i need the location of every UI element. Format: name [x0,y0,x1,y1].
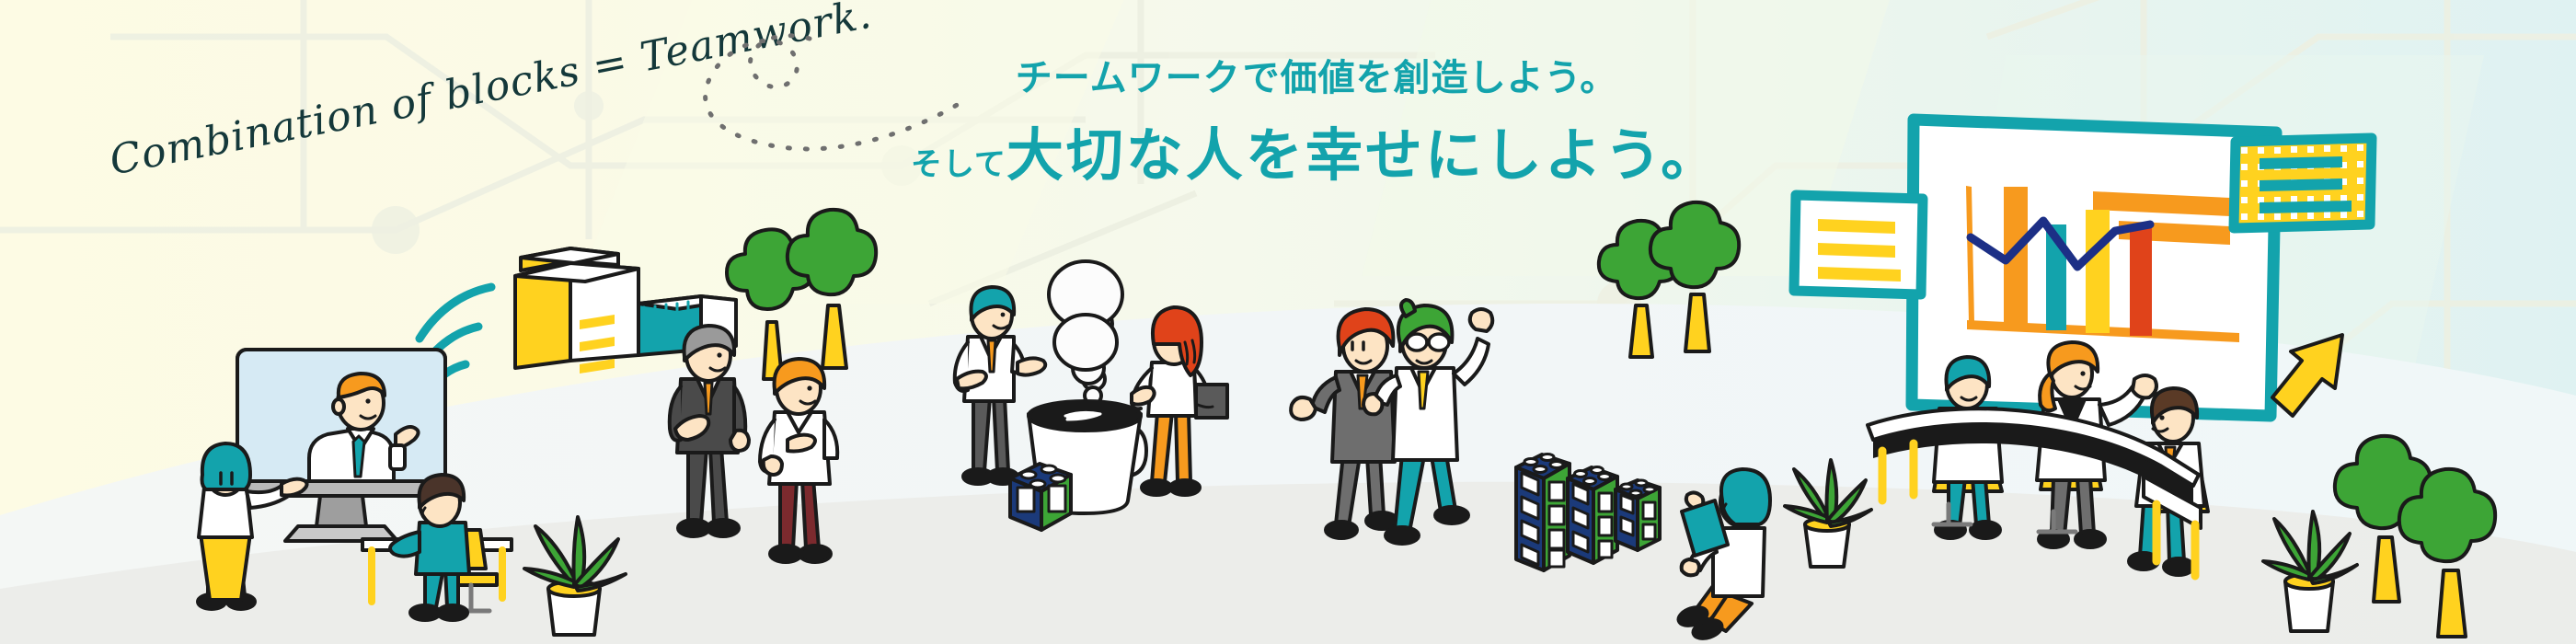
plant-leaves [2263,512,2357,583]
video-call-scene [198,287,512,620]
illustration-layer [0,0,2576,644]
block-cube [1010,464,1071,530]
plant-leaves [524,517,626,591]
growth-arrow-icon [2272,335,2342,416]
coffee-man [955,287,1045,484]
coffee-break-scene [955,261,1227,530]
potted-plant [1785,460,1871,567]
businessman-junior [760,359,837,562]
sticky-note [2234,138,2372,228]
coffee-woman [1132,307,1227,495]
building-windows [580,315,615,374]
potted-plant [524,517,626,635]
steam [1049,261,1122,404]
teamwork-banner: Combination of blocks = Teamwork. チームワーク… [0,0,2576,644]
plant-leaves [1785,460,1871,526]
office-buildings-scene [515,210,876,562]
block-towers-scene [1516,454,1660,571]
card-text-lines [1818,219,1901,282]
block-tower-1 [1516,454,1570,571]
potted-plant [2263,512,2357,631]
block-tower-3 [1616,480,1660,550]
tablet-reader-scene [1676,469,1770,642]
sticky-note-lines [2260,156,2352,213]
left-note-card [1794,195,1923,294]
celebration-scene [1291,300,1492,544]
block-tower-2 [1568,467,1617,564]
businessman-senior [670,326,749,536]
